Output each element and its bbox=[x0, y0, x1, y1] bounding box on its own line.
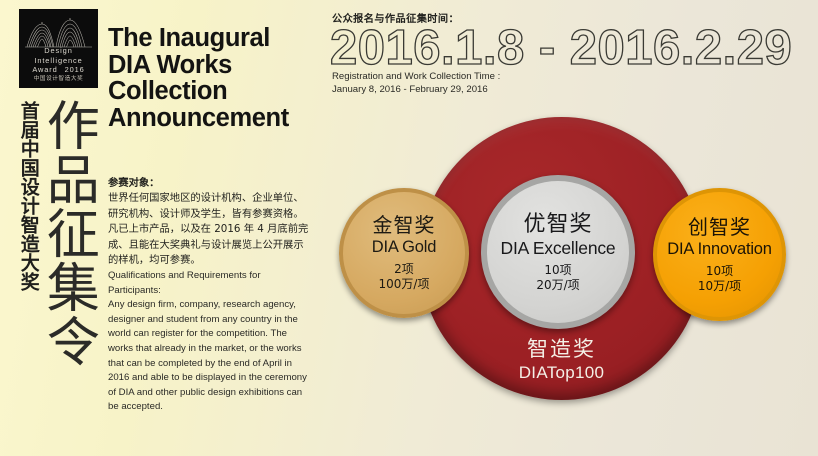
requirements-en: Qualifications and Requirements for Part… bbox=[108, 269, 313, 415]
logo-text-year: 2016 bbox=[65, 65, 85, 75]
requirements-cn-lead: 参赛对象： bbox=[108, 176, 313, 191]
award-gold-count: 2项 bbox=[394, 261, 414, 277]
award-innovation-count: 10项 bbox=[706, 263, 733, 279]
award-innovation-cn: 创智奖 bbox=[688, 216, 751, 239]
page-title: The Inaugural DIA Works Collection Annou… bbox=[108, 25, 308, 131]
dia-logo: Design Intelligence Award 2016 中国设计智造大奖 bbox=[19, 9, 98, 88]
date-label-en-line1: Registration and Work Collection Time : bbox=[332, 70, 500, 83]
logo-text-award: Award bbox=[32, 65, 57, 75]
date-label-en: Registration and Work Collection Time : … bbox=[332, 70, 500, 97]
award-excellence-en: DIA Excellence bbox=[501, 238, 616, 258]
award-gold-prize: 100万/项 bbox=[379, 277, 430, 292]
award-excellence-prize: 20万/项 bbox=[536, 278, 579, 293]
date-label-en-line2: January 8, 2016 - February 29, 2016 bbox=[332, 83, 500, 96]
award-gold-cn: 金智奖 bbox=[373, 214, 436, 237]
grand-award-label: 智造奖 DIATop100 bbox=[420, 336, 703, 384]
logo-text-intelligence: Intelligence bbox=[34, 56, 82, 66]
date-range: 2016.1.8 - 2016.2.29 bbox=[330, 22, 792, 74]
grand-award-en: DIATop100 bbox=[420, 362, 703, 384]
dia-logo-mark bbox=[25, 14, 92, 49]
award-innovation-prize: 10万/项 bbox=[698, 279, 741, 294]
award-circle-innovation: 创智奖 DIA Innovation 10项 10万/项 bbox=[653, 188, 786, 321]
award-innovation-en: DIA Innovation bbox=[667, 239, 772, 259]
award-circle-excellence: 优智奖 DIA Excellence 10项 20万/项 bbox=[481, 175, 635, 329]
requirements-en-text: Any design firm, company, research agenc… bbox=[108, 298, 313, 415]
requirements-cn-p1: 世界任何国家地区的设计机构、企业单位、研究机构、设计师及学生，皆有参赛资格。 bbox=[108, 191, 313, 222]
vertical-subtitle-cn: 首届中国设计智造大奖 bbox=[18, 101, 38, 291]
logo-text-chinese: 中国设计智造大奖 bbox=[34, 75, 84, 83]
award-circle-gold: 金智奖 DIA Gold 2项 100万/项 bbox=[339, 188, 469, 318]
award-gold-en: DIA Gold bbox=[372, 237, 436, 257]
vertical-title-cn: 作品征集令 bbox=[44, 98, 93, 368]
award-excellence-count: 10项 bbox=[544, 262, 571, 278]
requirements-cn-p2: 凡已上市产品，以及在 2016 年 4 月底前完成、且能在大奖典礼与设计展览上公… bbox=[108, 222, 313, 268]
award-excellence-cn: 优智奖 bbox=[523, 212, 592, 238]
requirements-en-title: Qualifications and Requirements for Part… bbox=[108, 269, 313, 298]
poster-canvas: Design Intelligence Award 2016 中国设计智造大奖 … bbox=[0, 0, 818, 456]
requirements-cn: 参赛对象： 世界任何国家地区的设计机构、企业单位、研究机构、设计师及学生，皆有参… bbox=[108, 176, 313, 268]
grand-award-cn: 智造奖 bbox=[420, 336, 703, 362]
